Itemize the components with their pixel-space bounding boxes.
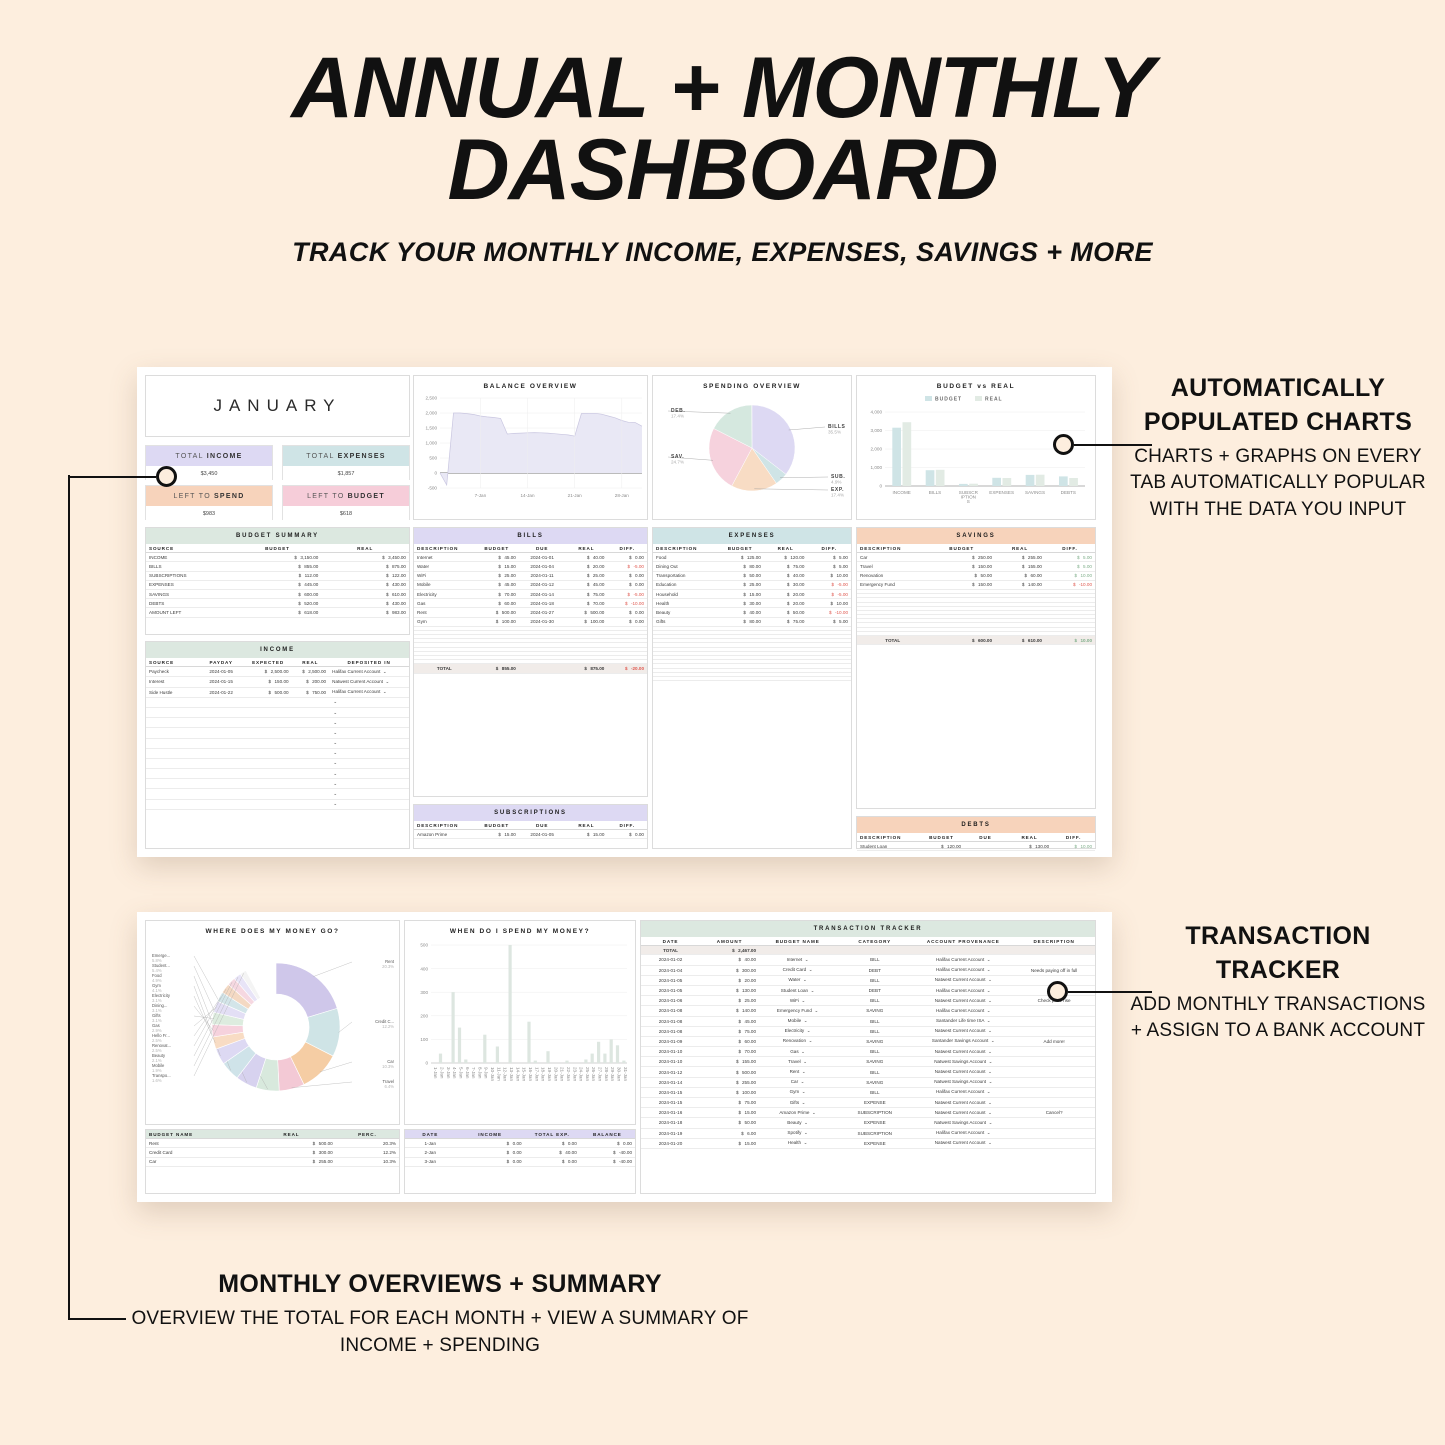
- transaction-row[interactable]: 2024-01-05$20.00Water ⌄BILLNatwest Curre…: [641, 975, 1095, 985]
- transaction-row[interactable]: 2024-01-02$40.00Internet ⌄BILLHalifax Cu…: [641, 955, 1095, 965]
- table-row[interactable]: SAVINGS$600.00$610.00: [146, 589, 409, 598]
- col-amount: AMOUNT: [700, 937, 759, 946]
- svg-text:2,500: 2,500: [426, 396, 438, 401]
- col-date: DATE: [641, 937, 700, 946]
- svg-text:1,000: 1,000: [871, 465, 883, 470]
- table-row-empty[interactable]: ⌄: [146, 707, 409, 717]
- callout-line-tracker: [1068, 991, 1152, 993]
- table-cell-amount: $25.00: [700, 996, 759, 1006]
- table-cell: Natwest Current Account ⌄: [913, 1047, 1013, 1057]
- subscriptions-table: SUBSCRIPTIONS DESCRIPTION BUDGET DUE REA…: [413, 804, 648, 849]
- table-cell-amount: $20.00: [764, 599, 808, 608]
- table-cell: Gym ⌄: [759, 1087, 836, 1097]
- table-cell: Rent: [146, 1139, 247, 1148]
- transaction-row[interactable]: 2024-01-08$75.00Electricity ⌄BILLNatwest…: [641, 1026, 1095, 1036]
- table-row[interactable]: Transportation$50.00$40.00$10.00: [653, 571, 851, 580]
- transaction-row[interactable]: 2024-01-18$50.00Beauty ⌄EXPENSENatwest S…: [641, 1118, 1095, 1128]
- table-cell: Natwest Current Account ⌄: [913, 975, 1013, 985]
- income-table: INCOME SOURCE PAYDAY EXPECTED REAL DEPOS…: [145, 641, 410, 849]
- table-cell-amount: $-10.00: [607, 599, 647, 608]
- svg-text:5-Jan: 5-Jan: [458, 1067, 463, 1079]
- table-cell: [198, 758, 245, 768]
- table-cell: EXPENSE: [836, 1118, 913, 1128]
- table-row[interactable]: WiFi$25.002024-01-11$25.00$0.00: [414, 571, 647, 580]
- table-row-empty[interactable]: [653, 676, 851, 680]
- table-cell-amount: $40.00: [764, 571, 808, 580]
- month-title-card: JANUARY: [145, 375, 410, 437]
- table-cell: DEBT: [836, 965, 913, 975]
- table-cell: ⌄: [329, 707, 409, 717]
- table-cell-amount: $0.00: [525, 1139, 580, 1148]
- table-cell: ⌄: [329, 697, 409, 707]
- table-cell: [653, 676, 716, 680]
- transaction-row[interactable]: 2024-01-15$75.00Gifts ⌄EXPENSENatwest Cu…: [641, 1098, 1095, 1108]
- table-cell-amount: $155.00: [995, 562, 1045, 571]
- kpi-total-expenses: TOTALEXPENSES $1,857: [282, 445, 410, 480]
- table-row-empty[interactable]: ⌄: [146, 718, 409, 728]
- table-cell-amount: $-5.00: [807, 580, 851, 589]
- table-cell-amount: $3,450.00: [321, 553, 409, 562]
- table-cell-amount: $300.00: [247, 1148, 336, 1157]
- table-cell: Gifts: [653, 617, 716, 626]
- svg-text:28-Jan: 28-Jan: [615, 493, 629, 498]
- table-row[interactable]: BILLS$855.00$875.00: [146, 562, 409, 571]
- transaction-row[interactable]: 2024-01-10$155.00Travel ⌄SAVINGNatwest S…: [641, 1057, 1095, 1067]
- table-cell: [245, 738, 292, 748]
- col-due: DUE: [964, 833, 1007, 842]
- transaction-total-row: TOTAL$2,467.00: [641, 946, 1095, 955]
- transaction-row[interactable]: 2024-01-08$45.00Mobile ⌄BILLSantander Li…: [641, 1016, 1095, 1026]
- table-row[interactable]: Beauty$40.00$50.00$-10.00: [653, 608, 851, 617]
- table-cell: 2024-01-05: [641, 985, 700, 995]
- table-cell-amount: $10.00: [1045, 571, 1095, 580]
- transaction-row[interactable]: 2024-01-15$100.00Gym ⌄BILLHalifax Curren…: [641, 1087, 1095, 1097]
- table-cell: 2024-01-14: [519, 589, 566, 598]
- kpi-left-to-budget-value: $618: [283, 506, 409, 521]
- table-cell-amount: $120.00: [764, 553, 808, 562]
- table-cell-amount: $855.00: [475, 664, 519, 673]
- table-row[interactable]: Paycheck2024-01-05$2,500.00$2,500.00Hali…: [146, 667, 409, 677]
- table-row[interactable]: Gym$100.002024-01-30$100.00$0.00: [414, 617, 647, 626]
- table-cell-amount: $10.00: [1045, 636, 1095, 645]
- table-cell: Health: [653, 599, 716, 608]
- table-row-empty[interactable]: ⌄: [146, 758, 409, 768]
- table-row[interactable]: Household$15.00$20.00$-5.00: [653, 589, 851, 598]
- table-row[interactable]: Interest2024-01-15$150.00$200.00Natwest …: [146, 677, 409, 687]
- table-cell: Travel ⌄: [759, 1057, 836, 1067]
- table-row[interactable]: EXPENSES$445.00$430.00: [146, 580, 409, 589]
- table-row[interactable]: DEBTS$520.00$430.00: [146, 599, 409, 608]
- table-cell-amount: $50.00: [764, 608, 808, 617]
- svg-text:27-Jan: 27-Jan: [598, 1067, 603, 1081]
- budget-name-grid: BUDGET NAME REAL PERC. Rent$500.0020.3%C…: [146, 1130, 399, 1167]
- table-row[interactable]: Credit Card$300.0012.2%: [146, 1148, 399, 1157]
- table-cell-amount: $255.00: [700, 1077, 759, 1087]
- table-row[interactable]: SUBSCRIPTIONS$112.00$122.00: [146, 571, 409, 580]
- table-cell: [146, 718, 198, 728]
- table-cell: Car: [857, 553, 928, 562]
- chart-when-do-i-spend: WHEN DO I SPEND MY MONEY? 01002003004005…: [404, 920, 636, 1125]
- when-spend-plot: 01002003004005001-Jan2-Jan3-Jan4-Jan5-Ja…: [405, 935, 635, 1121]
- table-row[interactable]: Car$250.00$255.00$5.00: [857, 553, 1095, 562]
- table-cell: Rent ⌄: [759, 1067, 836, 1077]
- overview-summary-panel: WHERE DOES MY MONEY GO? Rent20.3%Credit …: [137, 912, 1112, 1202]
- table-cell: [716, 676, 764, 680]
- callout-line-month-bottom: [68, 1318, 126, 1320]
- table-cell-amount: $60.00: [700, 1036, 759, 1046]
- table-row[interactable]: Education$25.00$30.00$-5.00: [653, 580, 851, 589]
- table-cell: ⌄: [329, 728, 409, 738]
- table-cell-amount: $40.00: [716, 608, 764, 617]
- table-row[interactable]: INCOME$3,150.00$3,450.00: [146, 553, 409, 562]
- table-cell: Travel: [857, 562, 928, 571]
- svg-text:500: 500: [420, 943, 428, 948]
- svg-text:0: 0: [879, 484, 882, 489]
- annotation-tracker-title: TRANSACTION TRACKER: [1128, 920, 1428, 988]
- transaction-row[interactable]: 2024-01-14$255.00Car ⌄SAVINGNatwest Savi…: [641, 1077, 1095, 1087]
- table-row-empty[interactable]: ⌄: [146, 748, 409, 758]
- table-cell: Cancel?: [1013, 1108, 1095, 1118]
- table-row[interactable]: Gifts$80.00$75.00$5.00: [653, 617, 851, 626]
- table-cell: Natwest Savings Account ⌄: [913, 1118, 1013, 1128]
- svg-text:8-Jan: 8-Jan: [477, 1067, 482, 1079]
- table-row[interactable]: Rent$500.0020.3%: [146, 1139, 399, 1148]
- col-budget: BUDGET: [716, 544, 764, 553]
- table-row-empty[interactable]: ⌄: [146, 697, 409, 707]
- table-cell: [292, 748, 330, 758]
- table-row[interactable]: Water$15.002024-01-04$20.00$-5.00: [414, 562, 647, 571]
- table-cell: [146, 789, 198, 799]
- money-donut-plot: Rent20.3%Credit C...12.2%Car10.3%Travel6…: [146, 935, 399, 1121]
- table-row-empty[interactable]: ⌄: [146, 728, 409, 738]
- bills-total-row: TOTAL$855.00$875.00$-20.00: [414, 664, 647, 673]
- table-row-empty[interactable]: ⌄: [146, 779, 409, 789]
- table-cell: [292, 738, 330, 748]
- table-row[interactable]: Health$30.00$20.00$10.00: [653, 599, 851, 608]
- table-cell: Halifax Current Account ⌄: [329, 667, 409, 677]
- transaction-row[interactable]: 2024-01-19$6.00Spotify ⌄SUBSCRIPTIONHali…: [641, 1128, 1095, 1138]
- table-cell: Water ⌄: [759, 975, 836, 985]
- transaction-row[interactable]: 2024-01-05$130.00Student Loan ⌄DEBTHalif…: [641, 985, 1095, 995]
- table-cell: SAVING: [836, 1077, 913, 1087]
- table-cell-amount: $300.00: [700, 965, 759, 975]
- table-row-empty[interactable]: ⌄: [146, 789, 409, 799]
- svg-text:12-Jan: 12-Jan: [503, 1067, 508, 1081]
- table-cell: [292, 728, 330, 738]
- table-cell: Car ⌄: [759, 1077, 836, 1087]
- table-cell: Credit Card ⌄: [759, 965, 836, 975]
- table-row[interactable]: 1-Jan$0.00$0.00$0.00: [405, 1139, 635, 1148]
- table-cell: [1013, 1098, 1095, 1108]
- table-row[interactable]: Student Loan$120.00$130.00$10.00: [857, 842, 1095, 851]
- table-cell: 2024-01-08: [641, 1026, 700, 1036]
- table-cell-amount: $50.00: [700, 1118, 759, 1128]
- transaction-row[interactable]: 2024-01-08$140.00Emergency Fund ⌄SAVINGH…: [641, 1006, 1095, 1016]
- table-cell: [198, 799, 245, 809]
- table-cell-amount: $10.00: [807, 599, 851, 608]
- title-line-2: DASHBOARD: [0, 130, 1445, 212]
- table-cell: Natwest Savings Account ⌄: [913, 1077, 1013, 1087]
- budget-name-summary-table: BUDGET NAME REAL PERC. Rent$500.0020.3%C…: [145, 1129, 400, 1194]
- table-cell: Natwest Current Account ⌄: [913, 1108, 1013, 1118]
- col-diff: DIFF.: [607, 821, 647, 830]
- svg-text:11-Jan: 11-Jan: [496, 1067, 501, 1081]
- table-cell: ⌄: [329, 769, 409, 779]
- table-cell-amount: $2,500.00: [245, 667, 292, 677]
- table-cell: 2024-01-11: [519, 571, 566, 580]
- table-row[interactable]: Travel$150.00$155.00$5.00: [857, 562, 1095, 571]
- transaction-row[interactable]: 2024-01-04$300.00Credit Card ⌄DEBTHalifa…: [641, 965, 1095, 975]
- table-row[interactable]: 3-Jan$0.00$0.00$-40.00: [405, 1157, 635, 1166]
- table-cell-amount: $50.00: [716, 571, 764, 580]
- table-cell-amount: $-20.00: [607, 664, 647, 673]
- col-payday: PAYDAY: [198, 658, 245, 667]
- table-row-empty[interactable]: ⌄: [146, 769, 409, 779]
- table-row[interactable]: Electricity$70.002024-01-14$75.00$-5.00: [414, 589, 647, 598]
- table-row[interactable]: Mobile$45.002024-01-12$45.00$0.00: [414, 580, 647, 589]
- table-cell-amount: $-10.00: [807, 608, 851, 617]
- table-cell: Add more!: [1013, 1036, 1095, 1046]
- table-cell: TOTAL: [857, 636, 928, 645]
- callout-line-month-top: [68, 476, 156, 478]
- budget-summary-grid: SOURCE BUDGET REAL INCOME$3,150.00$3,450…: [146, 544, 409, 618]
- table-cell-amount: $10.00: [1052, 842, 1095, 851]
- table-cell: 2024-01-10: [641, 1047, 700, 1057]
- kpi-total-expenses-label: TOTALEXPENSES: [283, 446, 409, 466]
- svg-text:22-Jan: 22-Jan: [566, 1067, 571, 1081]
- table-cell: [198, 748, 245, 758]
- table-cell: Natwest Current Account ⌄: [913, 1138, 1013, 1148]
- svg-text:19-Jan: 19-Jan: [547, 1067, 552, 1081]
- table-cell-amount: $15.00: [700, 1108, 759, 1118]
- transaction-tracker-table: TRANSACTION TRACKER DATE AMOUNT BUDGET N…: [640, 920, 1096, 1194]
- table-cell: 2024-01-06: [641, 996, 700, 1006]
- table-cell: Gas ⌄: [759, 1047, 836, 1057]
- chart-when-title: WHEN DO I SPEND MY MONEY?: [405, 921, 635, 935]
- table-cell-amount: $25.00: [565, 571, 607, 580]
- savings-total-row: TOTAL$600.00$610.00$10.00: [857, 636, 1095, 645]
- spending-overview-plot: BILLS35.5%SUB.4.9%EXP.17.4%SAV.24.7%DEB.…: [653, 390, 851, 512]
- daily-balance-grid: DATE INCOME TOTAL EXP. BALANCE 1-Jan$0.0…: [405, 1130, 635, 1167]
- kpi-total-expenses-value: $1,857: [283, 466, 409, 481]
- callout-line-month-vertical: [68, 475, 70, 1320]
- debts-heading: DEBTS: [857, 817, 1095, 833]
- col-budget: BUDGET: [475, 821, 519, 830]
- col-real: REAL: [321, 544, 409, 553]
- table-cell-amount: $150.00: [928, 580, 995, 589]
- transaction-row[interactable]: 2024-01-10$70.00Gas ⌄BILLNatwest Current…: [641, 1047, 1095, 1057]
- table-row-empty[interactable]: ⌄: [146, 799, 409, 809]
- transaction-row[interactable]: 2024-01-06$25.00WiFi ⌄BILLNatwest Curren…: [641, 996, 1095, 1006]
- expenses-grid: DESCRIPTION BUDGET REAL DIFF. Food$125.0…: [653, 544, 851, 681]
- budget-summary-table: BUDGET SUMMARY SOURCE BUDGET REAL INCOME…: [145, 527, 410, 635]
- table-row[interactable]: AMOUNT LEFT$618.00$983.00: [146, 608, 409, 617]
- table-cell-amount: $875.00: [565, 664, 607, 673]
- table-row[interactable]: Emergency Fund$150.00$140.00$-10.00: [857, 580, 1095, 589]
- table-cell-amount: $120.00: [919, 842, 964, 851]
- table-cell: 2024-01-05: [641, 975, 700, 985]
- table-cell-amount: $-40.00: [580, 1157, 635, 1166]
- table-cell-amount: $250.00: [928, 553, 995, 562]
- col-source: SOURCE: [146, 658, 198, 667]
- chart-spending-overview-title: SPENDING OVERVIEW: [653, 376, 851, 390]
- svg-text:200: 200: [420, 1014, 428, 1019]
- table-cell-amount: $750.00: [292, 687, 330, 697]
- table-cell: BILL: [836, 1026, 913, 1036]
- annotation-charts-title: AUTOMATICALLY POPULATED CHARTS: [1128, 372, 1428, 440]
- table-cell: SUBSCRIPTION: [836, 1108, 913, 1118]
- transaction-row[interactable]: 2024-01-16$15.00Amazon Prime ⌄SUBSCRIPTI…: [641, 1108, 1095, 1118]
- table-cell: WiFi ⌄: [759, 996, 836, 1006]
- table-cell: Halifax Current Account ⌄: [913, 1128, 1013, 1138]
- annotation-charts: AUTOMATICALLY POPULATED CHARTS CHARTS + …: [1128, 372, 1428, 524]
- table-cell-amount: $500.00: [700, 1067, 759, 1077]
- table-cell: [292, 697, 330, 707]
- balance-overview-plot: -50005001,0001,5002,0002,5007-Jan14-Jan2…: [414, 390, 647, 512]
- table-cell: SAVING: [836, 1006, 913, 1016]
- col-description: DESCRIPTION: [857, 833, 919, 842]
- table-cell: Dining Out: [653, 562, 716, 571]
- col-date: DATE: [405, 1130, 456, 1139]
- table-cell-amount: $122.00: [321, 571, 409, 580]
- table-cell: [292, 799, 330, 809]
- table-cell-amount: $-40.00: [580, 1148, 635, 1157]
- table-cell: 12.2%: [336, 1148, 399, 1157]
- table-cell-amount: $5.00: [1045, 562, 1095, 571]
- table-cell: [964, 842, 1007, 851]
- table-row[interactable]: Rent$500.002024-01-27$500.00$0.00: [414, 608, 647, 617]
- table-cell: [1013, 955, 1095, 965]
- table-cell-amount: $5.00: [1045, 553, 1095, 562]
- table-cell-amount: $75.00: [565, 589, 607, 598]
- table-cell: Natwest Current Account ⌄: [913, 996, 1013, 1006]
- table-cell-amount: $130.00: [1007, 842, 1052, 851]
- table-cell: [146, 748, 198, 758]
- table-cell-amount: $6.00: [700, 1128, 759, 1138]
- table-cell: [146, 728, 198, 738]
- table-cell-amount: $0.00: [525, 1157, 580, 1166]
- svg-text:20-Jan: 20-Jan: [553, 1067, 558, 1081]
- table-cell: Car: [146, 1157, 247, 1166]
- chart-balance-overview: BALANCE OVERVIEW -50005001,0001,5002,000…: [413, 375, 648, 520]
- table-cell-amount: $20.00: [764, 589, 808, 598]
- kpi-left-to-budget-label: LEFT TOBUDGET: [283, 486, 409, 506]
- col-diff: DIFF.: [807, 544, 851, 553]
- table-row[interactable]: Dining Out$80.00$75.00$5.00: [653, 562, 851, 571]
- table-cell: BILL: [836, 1047, 913, 1057]
- table-cell: Rent: [414, 608, 475, 617]
- table-row[interactable]: Car$255.0010.3%: [146, 1157, 399, 1166]
- table-cell-amount: $75.00: [764, 617, 808, 626]
- table-cell-amount: $0.00: [607, 617, 647, 626]
- table-cell: 2024-01-22: [198, 687, 245, 697]
- table-cell: [1013, 1016, 1095, 1026]
- col-expected: EXPECTED: [245, 658, 292, 667]
- col-deposited-in: DEPOSITED IN: [329, 658, 409, 667]
- table-cell-amount: $520.00: [234, 599, 322, 608]
- table-cell: [1013, 1087, 1095, 1097]
- table-cell-amount: $40.00: [525, 1148, 580, 1157]
- col-real: REAL: [565, 544, 607, 553]
- col-real: REAL: [292, 658, 330, 667]
- table-cell: SAVINGS: [146, 589, 234, 598]
- table-cell-amount: $445.00: [234, 580, 322, 589]
- svg-text:13-Jan: 13-Jan: [509, 1067, 514, 1081]
- table-cell: BILL: [836, 1087, 913, 1097]
- svg-text:20.3%: 20.3%: [382, 964, 394, 969]
- table-cell: Electricity ⌄: [759, 1026, 836, 1036]
- svg-text:-500: -500: [428, 486, 438, 491]
- table-cell-amount: $40.00: [700, 955, 759, 965]
- table-row[interactable]: Internet$45.002024-01-01$40.00$0.00: [414, 553, 647, 562]
- expenses-table: EXPENSES DESCRIPTION BUDGET REAL DIFF. F…: [652, 527, 852, 849]
- budget-summary-heading: BUDGET SUMMARY: [146, 528, 409, 544]
- col-real: REAL: [565, 821, 607, 830]
- table-cell: 2024-01-08: [641, 1016, 700, 1026]
- table-cell: SAVING: [836, 1036, 913, 1046]
- table-cell: [245, 789, 292, 799]
- hero-header: ANNUAL + MONTHLY DASHBOARD TRACK YOUR MO…: [0, 0, 1445, 268]
- table-row-empty[interactable]: ⌄: [146, 738, 409, 748]
- table-cell: TOTAL: [641, 946, 700, 955]
- kpi-left-to-spend: LEFT TOSPEND $983: [145, 485, 273, 520]
- svg-text:18-Jan: 18-Jan: [541, 1067, 546, 1081]
- table-cell: Santander Life time ISA ⌄: [913, 1016, 1013, 1026]
- table-cell: SAVING: [836, 1057, 913, 1067]
- table-row[interactable]: Food$125.00$120.00$5.00: [653, 553, 851, 562]
- svg-text:25-Jan: 25-Jan: [585, 1067, 590, 1081]
- table-cell: [146, 697, 198, 707]
- table-row[interactable]: Gas$60.002024-01-18$70.00$-10.00: [414, 599, 647, 608]
- savings-grid: DESCRIPTION BUDGET REAL DIFF. Car$250.00…: [857, 544, 1095, 645]
- table-cell: Household: [653, 589, 716, 598]
- table-cell: Natwest Savings Account ⌄: [913, 1057, 1013, 1067]
- transaction-row[interactable]: 2024-01-12$500.00Rent ⌄BILLNatwest Curre…: [641, 1067, 1095, 1077]
- col-budget-name: BUDGET NAME: [759, 937, 836, 946]
- table-cell-amount: $45.00: [565, 580, 607, 589]
- table-cell-amount: $80.00: [716, 617, 764, 626]
- table-cell: [836, 946, 913, 955]
- table-cell: 2024-01-15: [641, 1087, 700, 1097]
- monthly-dashboard-panel: JANUARY TOTALINCOME $3,450 TOTALEXPENSES…: [137, 367, 1112, 857]
- transaction-row[interactable]: 2024-01-09$60.00Renovation ⌄SAVINGSantan…: [641, 1036, 1095, 1046]
- callout-dot-charts: [1053, 434, 1074, 455]
- table-cell: ⌄: [329, 718, 409, 728]
- table-row[interactable]: 2-Jan$0.00$40.00$-40.00: [405, 1148, 635, 1157]
- table-row[interactable]: Amazon Prime$15.002024-01-05$15.00$0.00: [414, 830, 647, 839]
- table-cell: 2024-01-15: [198, 677, 245, 687]
- col-budget: BUDGET: [475, 544, 519, 553]
- table-row[interactable]: Side Hustle2024-01-22$500.00$750.00Halif…: [146, 687, 409, 697]
- transaction-row[interactable]: 2024-01-20$15.00Health ⌄EXPENSENatwest C…: [641, 1138, 1095, 1148]
- table-cell: [245, 758, 292, 768]
- table-row[interactable]: Renovation$50.00$60.00$10.00: [857, 571, 1095, 580]
- svg-text:10-Jan: 10-Jan: [490, 1067, 495, 1081]
- svg-text:28-Jan: 28-Jan: [604, 1067, 609, 1081]
- col-due: DUE: [519, 544, 566, 553]
- table-cell: Credit Card: [146, 1148, 247, 1157]
- table-cell-amount: $0.00: [580, 1139, 635, 1148]
- table-cell: Renovation ⌄: [759, 1036, 836, 1046]
- table-cell: Health ⌄: [759, 1138, 836, 1148]
- svg-text:4.9%: 4.9%: [831, 480, 841, 485]
- table-cell-amount: $600.00: [234, 589, 322, 598]
- svg-text:17-Jan: 17-Jan: [534, 1067, 539, 1081]
- table-cell: 20.3%: [336, 1139, 399, 1148]
- svg-text:SAVINGS: SAVINGS: [1025, 490, 1045, 495]
- col-description: DESCRIPTION: [414, 544, 475, 553]
- svg-text:31-Jan: 31-Jan: [623, 1067, 628, 1081]
